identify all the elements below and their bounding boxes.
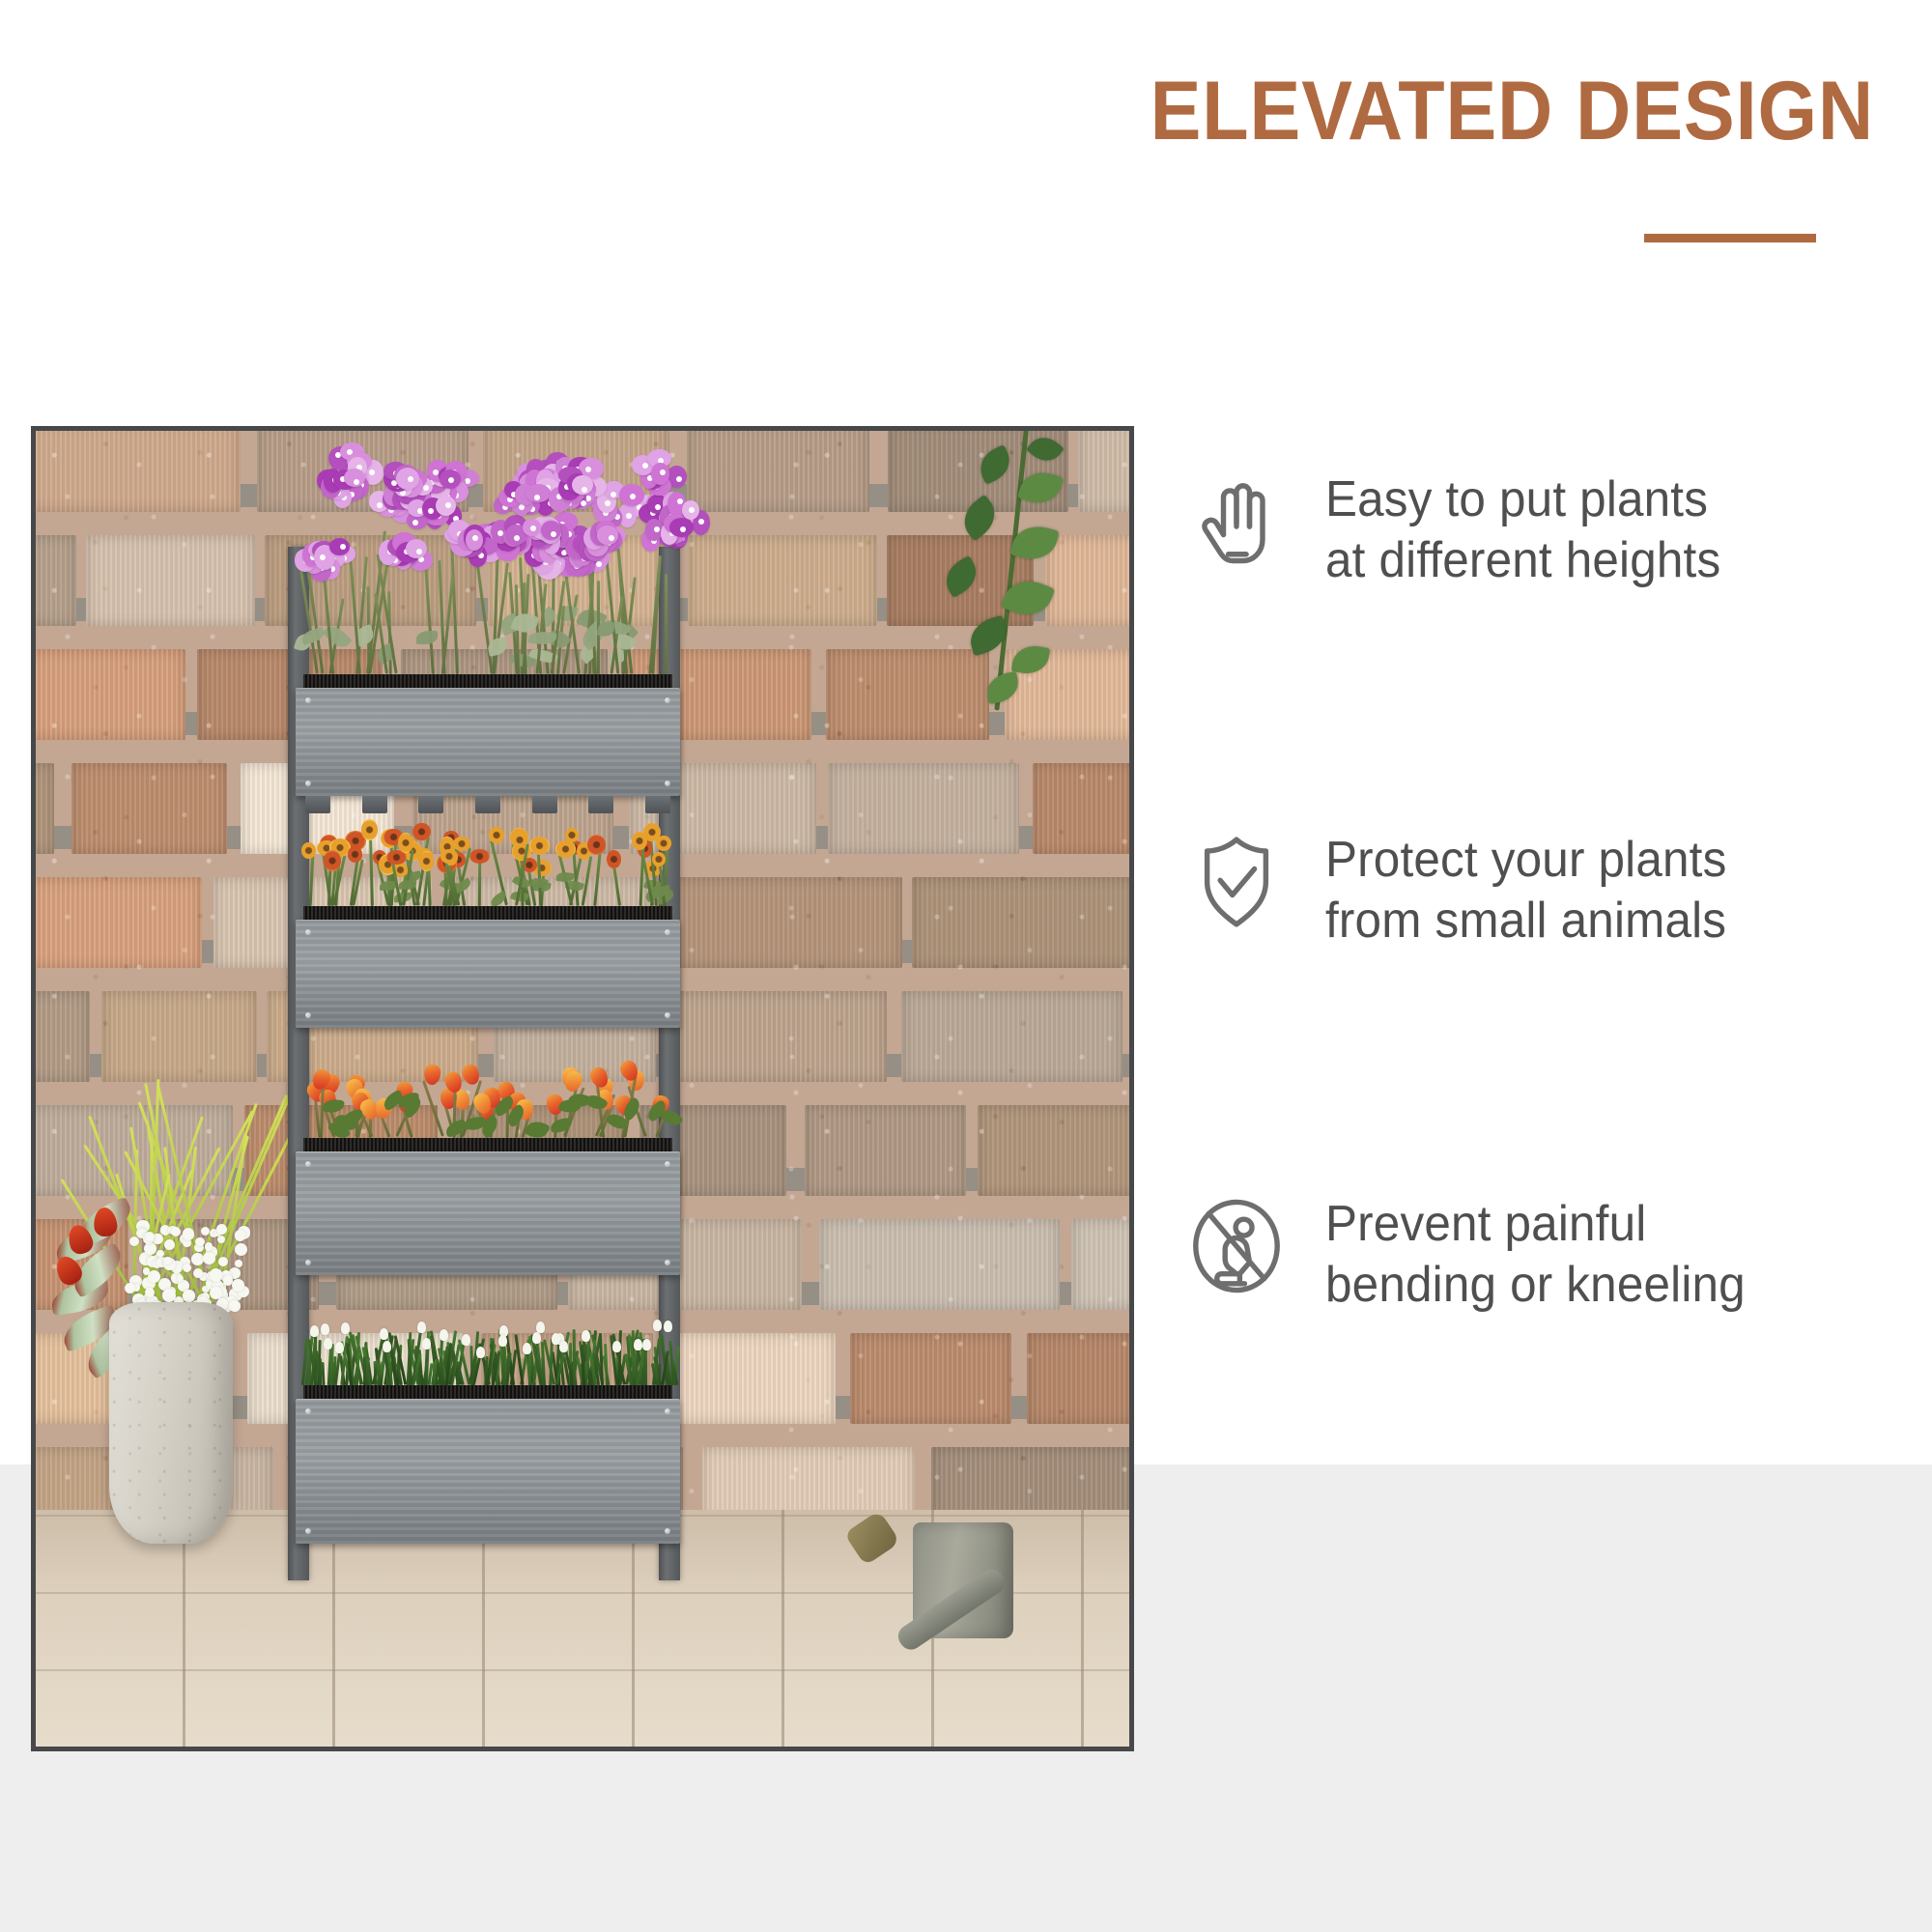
tier-4-plants [298, 1316, 678, 1385]
feature-list: Easy to put plants at different heights … [1184, 426, 1918, 1751]
feature-line-2: bending or kneeling [1325, 1255, 1746, 1316]
feature-line-2: at different heights [1325, 530, 1720, 591]
ivy-vine [886, 431, 1129, 740]
feature-text-no-bending: Prevent painful bending or kneeling [1325, 1194, 1746, 1317]
stone-vase [55, 1138, 287, 1544]
tier-1-plants [290, 452, 686, 674]
watering-can [897, 1495, 1013, 1638]
hand-icon [1184, 469, 1289, 574]
feature-line-1: Prevent painful [1325, 1194, 1746, 1255]
tiered-planter [272, 547, 688, 1600]
tier-2-plants [294, 800, 682, 906]
feature-text-protect: Protect your plants from small animals [1325, 830, 1726, 952]
feature-text-heights: Easy to put plants at different heights [1325, 469, 1720, 592]
feature-line-1: Easy to put plants [1325, 469, 1720, 530]
headline-block: ELEVATED DESIGN [850, 68, 1874, 155]
feature-line-2: from small animals [1325, 891, 1726, 952]
product-photo [31, 426, 1134, 1751]
shield-check-icon [1184, 830, 1289, 934]
feature-item-heights: Easy to put plants at different heights [1184, 469, 1742, 592]
tier-3-plants [294, 1032, 682, 1138]
title-underline-rule [1644, 234, 1816, 242]
page-title: ELEVATED DESIGN [932, 68, 1874, 155]
feature-item-no-bending: Prevent painful bending or kneeling [1184, 1194, 1768, 1317]
no-kneeling-icon [1184, 1194, 1289, 1298]
feature-item-protect: Protect your plants from small animals [1184, 830, 1747, 952]
feature-line-1: Protect your plants [1325, 830, 1726, 891]
